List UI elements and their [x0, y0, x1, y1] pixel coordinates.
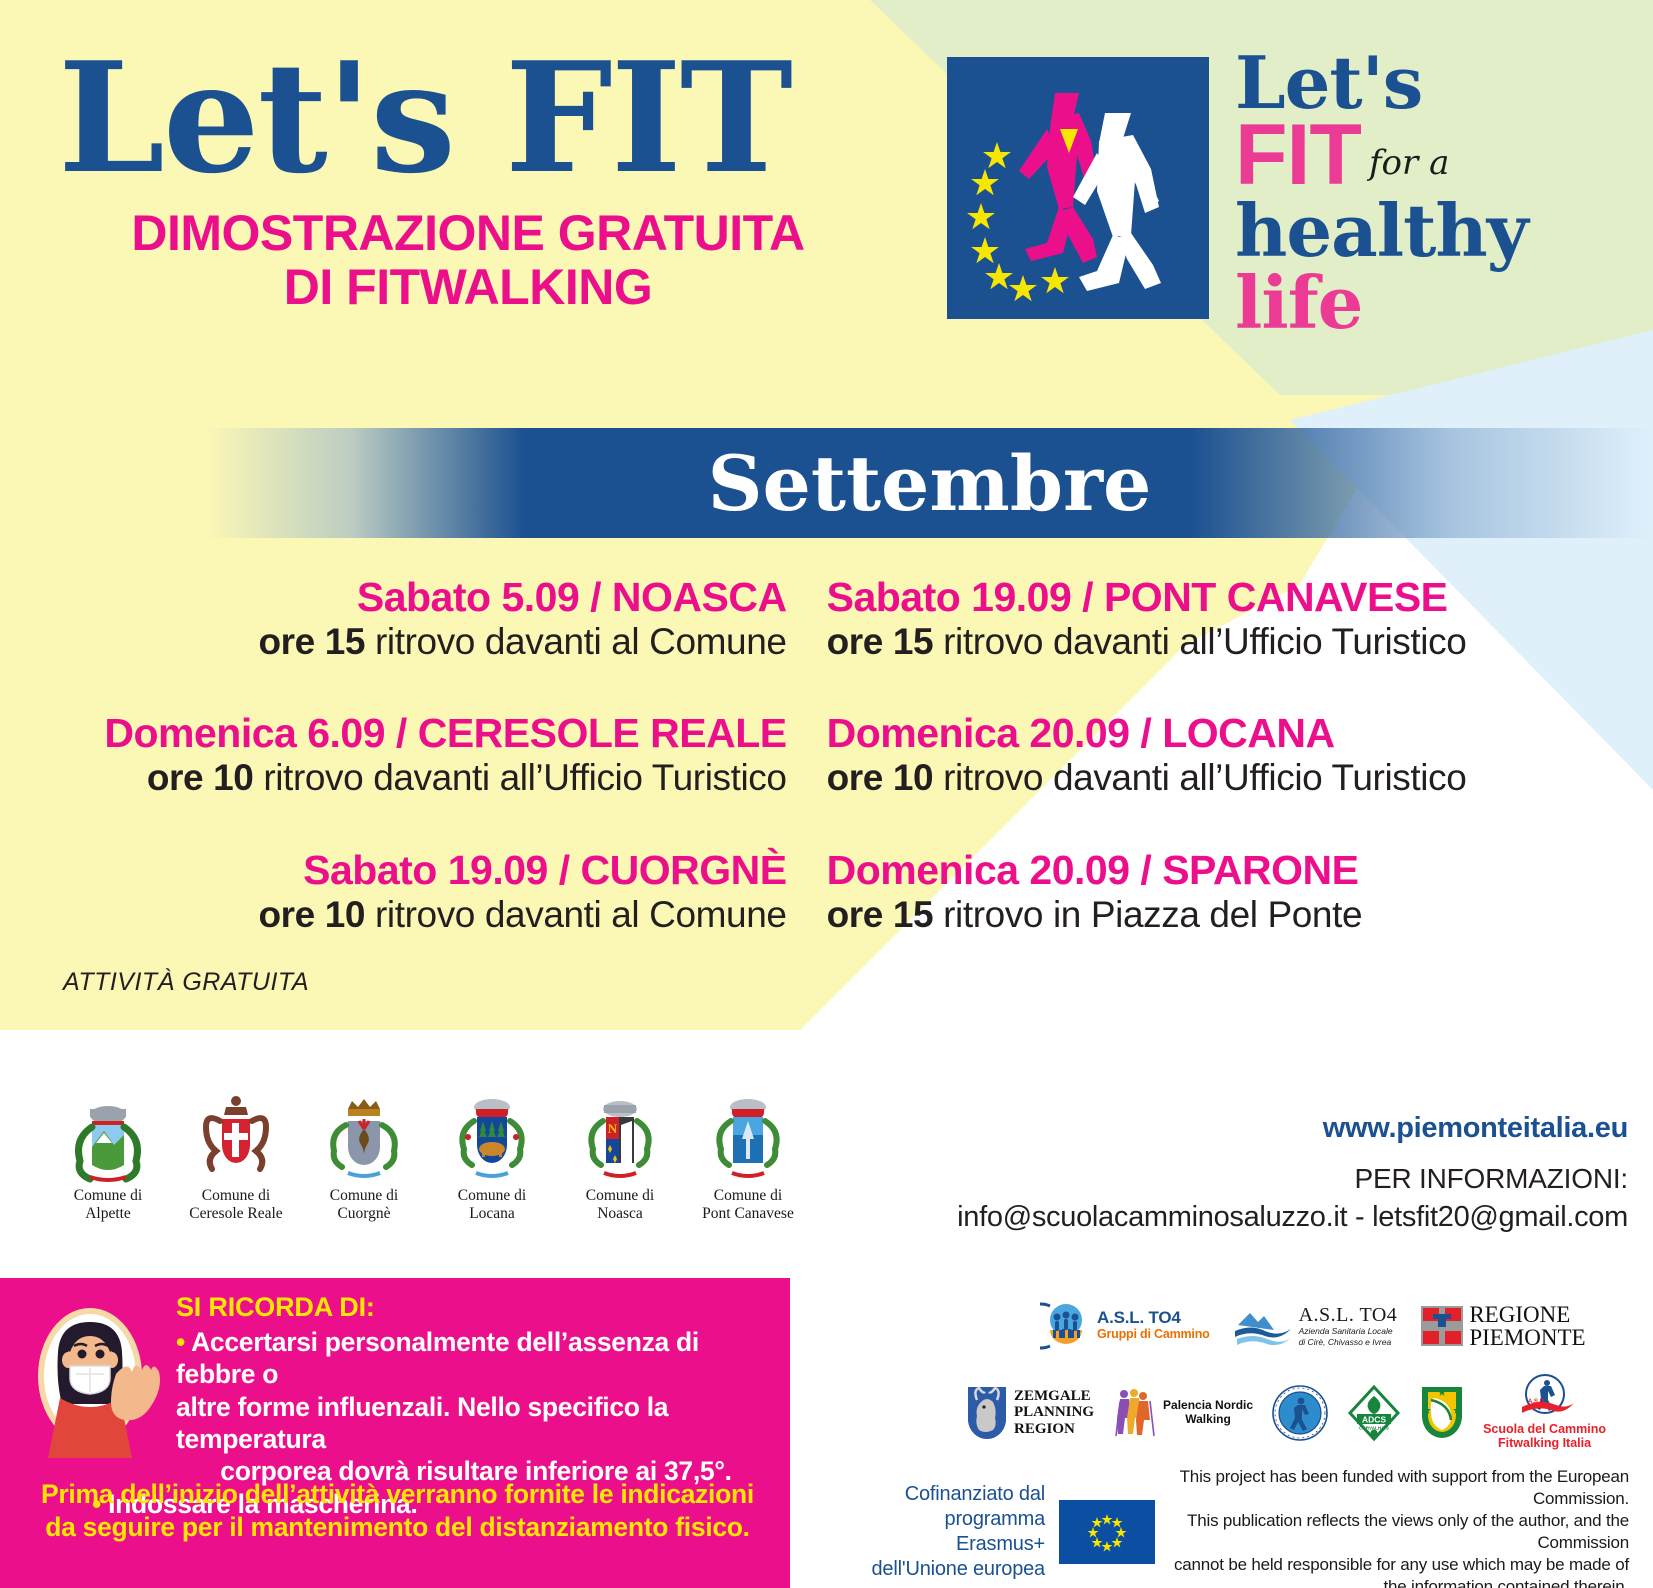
crest-alpette-icon	[58, 1085, 158, 1185]
event-detail: ore 15 ritrovo in Piazza del Ponte	[827, 894, 1653, 937]
crest-label-line2: Locana	[442, 1205, 542, 1223]
sponsor-palencia-nordic-walking: Palencia Nordic Walking	[1112, 1384, 1253, 1442]
crest-label: Comune di Ceresole Reale	[186, 1187, 286, 1223]
page-subtitle: DIMOSTRAZIONE GRATUITA DI FITWALKING	[58, 206, 878, 314]
crest-label-line1: Comune di	[186, 1187, 286, 1205]
adcs-carvalhais-icon: ADCS CARVALHAIS	[1347, 1384, 1401, 1442]
crest-label-line1: Comune di	[698, 1187, 798, 1205]
cofunding-line-3: dell'Unione europea	[855, 1557, 1045, 1582]
blue-circular-club-icon	[1271, 1384, 1329, 1442]
crest-label-line1: Comune di	[570, 1187, 670, 1205]
notice-footer-line-2: da seguire per il mantenimento del dista…	[25, 1511, 770, 1544]
sponsor-logos-row-1: A.S.L. TO4 Gruppi di Cammino A.S.L. TO4 …	[1040, 1288, 1640, 1363]
contact-block: www.piemonteitalia.eu PER INFORMAZIONI: …	[957, 1112, 1628, 1234]
brand-healthy-text: healthy	[1235, 195, 1635, 267]
crest-label-line2: Alpette	[58, 1205, 158, 1223]
event-item: Sabato 19.09 / PONT CANAVESE ore 15 ritr…	[827, 575, 1653, 663]
crest-label: Comune di Alpette	[58, 1187, 158, 1223]
crest-ceresole-reale-icon	[186, 1085, 286, 1185]
event-time: ore 10	[258, 894, 365, 935]
disclaimer-line-1: This project has been funded with suppor…	[1169, 1466, 1629, 1510]
notice-bullet-1-line-2: altre forme influenzali. Nello specifico…	[176, 1391, 776, 1456]
sponsor-name-line-1: REGIONE	[1469, 1303, 1585, 1326]
event-detail: ore 10 ritrovo davanti all’Ufficio Turis…	[827, 757, 1653, 800]
event-location: ritrovo davanti al Comune	[365, 621, 786, 662]
crest-item: N Comune di Noasca	[570, 1085, 670, 1223]
events-column-right: Sabato 19.09 / PONT CANAVESE ore 15 ritr…	[805, 575, 1653, 984]
sponsor-name-line-1: Palencia Nordic	[1163, 1399, 1253, 1413]
crest-locana-icon	[442, 1085, 542, 1185]
sponsor-subtitle-line-1: Azienda Sanitaria Locale	[1299, 1326, 1398, 1337]
crest-label-line2: Pont Canavese	[698, 1205, 798, 1223]
event-detail: ore 15 ritrovo davanti all’Ufficio Turis…	[827, 621, 1653, 664]
crest-item: Comune di Pont Canavese	[698, 1085, 798, 1223]
masked-woman-icon	[32, 1288, 162, 1458]
asd-badge-text: A.S.D.	[1528, 1399, 1546, 1405]
sponsor-name: A.S.L. TO4	[1299, 1304, 1398, 1326]
header-title-block: Let's FIT DIMOSTRAZIONE GRATUITA DI FITW…	[58, 46, 938, 314]
sponsor-subtitle: Gruppi di Cammino	[1097, 1328, 1210, 1342]
crest-item: Comune di Ceresole Reale	[186, 1085, 286, 1223]
event-title: Sabato 19.09 / CUORGNÈ	[0, 848, 787, 894]
website-link[interactable]: www.piemonteitalia.eu	[957, 1112, 1628, 1145]
event-title: Sabato 19.09 / PONT CANAVESE	[827, 575, 1653, 621]
page-subtitle-line-1: DIMOSTRAZIONE GRATUITA	[58, 206, 878, 260]
crest-label: Comune di Pont Canavese	[698, 1187, 798, 1223]
sponsor-name-line-1: Scuola del Cammino	[1483, 1423, 1606, 1437]
eu-flag-icon	[1059, 1500, 1155, 1564]
brand-fit-text: FIT	[1235, 117, 1361, 194]
sponsor-name-line-2: PLANNING	[1014, 1404, 1094, 1421]
sponsor-zemgale: ZEMGALE PLANNING REGION	[965, 1384, 1094, 1442]
event-time: ore 10	[827, 757, 934, 798]
adcs-text: ADCS	[1362, 1414, 1386, 1424]
crest-item: Comune di Cuorgnè	[314, 1085, 414, 1223]
event-time: ore 15	[827, 621, 934, 662]
letsfit-emblem	[947, 57, 1209, 319]
event-item: Sabato 19.09 / CUORGNÈ ore 10 ritrovo da…	[0, 848, 787, 936]
month-label: Settembre	[708, 439, 1152, 528]
event-location: ritrovo davanti al Comune	[365, 894, 786, 935]
crest-label: Comune di Cuorgnè	[314, 1187, 414, 1223]
sponsor-subtitle-line-2: di Cirè, Chivasso e Ivrea	[1299, 1337, 1398, 1348]
green-yellow-shield-icon	[1419, 1384, 1465, 1442]
eu-disclaimer-text: This project has been funded with suppor…	[1169, 1466, 1629, 1588]
crest-noasca-icon: N	[570, 1085, 670, 1185]
disclaimer-line-3: cannot be held responsible for any use w…	[1169, 1554, 1629, 1576]
brand-life-text: life	[1235, 267, 1635, 339]
notice-heading: SI RICORDA DI:	[176, 1292, 776, 1323]
event-time: ore 10	[147, 757, 254, 798]
poster-root: Let's FIT DIMOSTRAZIONE GRATUITA DI FITW…	[0, 0, 1653, 1588]
covid-notice-box: SI RICORDA DI: • Accertarsi personalment…	[0, 1278, 790, 1588]
sponsor-regione-piemonte: REGIONE PIEMONTE	[1419, 1303, 1585, 1349]
notice-footer-line-1: Prima dell’inizio dell’attività verranno…	[25, 1478, 770, 1511]
info-label: PER INFORMAZIONI:	[957, 1163, 1628, 1195]
sponsor-name-line-2: PIEMONTE	[1469, 1326, 1585, 1349]
crest-label-line2: Cuorgnè	[314, 1205, 414, 1223]
disclaimer-line-4: the information contained therein.	[1169, 1576, 1629, 1588]
cofunding-line-2: programma Erasmus+	[855, 1507, 1045, 1557]
page-title: Let's FIT	[58, 46, 938, 190]
sponsor-scuola-cammino-fitwalking: A.S.D. Scuola del Cammino Fitwalking Ita…	[1483, 1374, 1606, 1451]
crest-pont-canavese-icon	[698, 1085, 798, 1185]
comune-crest-strip: Comune di Alpette Comune di Ceresole Rea…	[58, 1085, 798, 1223]
eu-funding-footer: Cofinanziato dal programma Erasmus+ dell…	[855, 1484, 1645, 1580]
crest-label: Comune di Noasca	[570, 1187, 670, 1223]
event-item: Domenica 20.09 / LOCANA ore 10 ritrovo d…	[827, 711, 1653, 799]
zemgale-moose-shield-icon	[965, 1384, 1009, 1442]
regione-piemonte-icon	[1419, 1304, 1465, 1348]
crest-label-line2: Ceresole Reale	[186, 1205, 286, 1223]
brand-fora-text: for a	[1369, 148, 1449, 179]
free-activity-note: ATTIVITÀ GRATUITA	[63, 968, 309, 997]
event-detail: ore 15 ritrovo davanti al Comune	[0, 621, 787, 664]
page-subtitle-line-2: DI FITWALKING	[58, 260, 878, 314]
event-time: ore 15	[258, 621, 365, 662]
notice-bullet-1-text: Accertarsi personalmente dell’assenza di…	[176, 1327, 699, 1389]
event-item: Sabato 5.09 / NOASCA ore 15 ritrovo dava…	[0, 575, 787, 663]
crest-item: Comune di Alpette	[58, 1085, 158, 1223]
event-title: Domenica 20.09 / SPARONE	[827, 848, 1653, 894]
month-banner: Settembre	[206, 428, 1653, 538]
event-detail: ore 10 ritrovo davanti al Comune	[0, 894, 787, 937]
brand-fit-row: FIT for a	[1235, 117, 1635, 194]
sponsor-name: A.S.L. TO4	[1097, 1309, 1210, 1328]
notice-bullet-1-line-1: • Accertarsi personalmente dell’assenza …	[176, 1326, 776, 1391]
notice-footer: Prima dell’inizio dell’attività verranno…	[25, 1478, 770, 1544]
crest-label-line2: Noasca	[570, 1205, 670, 1223]
event-location: ritrovo davanti all’Ufficio Turistico	[933, 621, 1466, 662]
crest-label-line1: Comune di	[58, 1187, 158, 1205]
event-title: Sabato 5.09 / NOASCA	[0, 575, 787, 621]
scuola-cammino-walker-icon: A.S.D.	[1514, 1374, 1576, 1418]
sponsor-asl-to4-gruppi: A.S.L. TO4 Gruppi di Cammino	[1040, 1300, 1210, 1352]
crest-label-line1: Comune di	[314, 1187, 414, 1205]
event-location: ritrovo davanti all’Ufficio Turistico	[933, 757, 1466, 798]
bullet-icon: •	[176, 1327, 185, 1357]
event-location: ritrovo in Piazza del Ponte	[933, 894, 1362, 935]
event-location: ritrovo davanti all’Ufficio Turistico	[253, 757, 786, 798]
crest-item: Comune di Locana	[442, 1085, 542, 1223]
sponsor-name-line-3: REGION	[1014, 1421, 1094, 1438]
crest-label-line1: Comune di	[442, 1187, 542, 1205]
crest-label: Comune di Locana	[442, 1187, 542, 1223]
email-links[interactable]: info@scuolacamminosaluzzo.it - letsfit20…	[957, 1201, 1628, 1234]
brand-wordmark: Let's FIT for a healthy life	[1235, 49, 1635, 339]
event-item: Domenica 20.09 / SPARONE ore 15 ritrovo …	[827, 848, 1653, 936]
sponsor-name-line-2: Fitwalking Italia	[1483, 1437, 1606, 1451]
events-section: Sabato 5.09 / NOASCA ore 15 ritrovo dava…	[0, 575, 1653, 984]
event-detail: ore 10 ritrovo davanti all’Ufficio Turis…	[0, 757, 787, 800]
svg-text:N: N	[608, 1121, 618, 1136]
walking-figures-icon	[947, 57, 1209, 319]
sponsor-asl-to4: A.S.L. TO4 Azienda Sanitaria Locale di C…	[1232, 1304, 1398, 1347]
sponsor-green-yellow-shield	[1419, 1384, 1465, 1442]
event-title: Domenica 20.09 / LOCANA	[827, 711, 1653, 757]
asl-mountains-icon	[1232, 1305, 1294, 1347]
nordic-walkers-icon	[1112, 1384, 1158, 1442]
erasmus-cofunding-text: Cofinanziato dal programma Erasmus+ dell…	[855, 1482, 1045, 1582]
cofunding-line-1: Cofinanziato dal	[855, 1482, 1045, 1507]
sponsor-blue-circle-club	[1271, 1384, 1329, 1442]
event-time: ore 15	[827, 894, 934, 935]
sponsor-name-line-2: Walking	[1163, 1413, 1253, 1427]
sponsor-logos-row-2: ZEMGALE PLANNING REGION Palencia Nordic …	[965, 1370, 1645, 1455]
events-column-left: Sabato 5.09 / NOASCA ore 15 ritrovo dava…	[0, 575, 805, 984]
disclaimer-line-2: This publication reflects the views only…	[1169, 1510, 1629, 1554]
sponsor-adcs-carvalhais: ADCS CARVALHAIS	[1347, 1384, 1401, 1442]
event-item: Domenica 6.09 / CERESOLE REALE ore 10 ri…	[0, 711, 787, 799]
sponsor-name-line-1: ZEMGALE	[1014, 1388, 1094, 1405]
brand-logo: Let's FIT for a healthy life	[947, 57, 1647, 367]
event-title: Domenica 6.09 / CERESOLE REALE	[0, 711, 787, 757]
crest-cuorgne-icon	[314, 1085, 414, 1185]
asl-gruppi-di-cammino-icon	[1040, 1300, 1092, 1352]
